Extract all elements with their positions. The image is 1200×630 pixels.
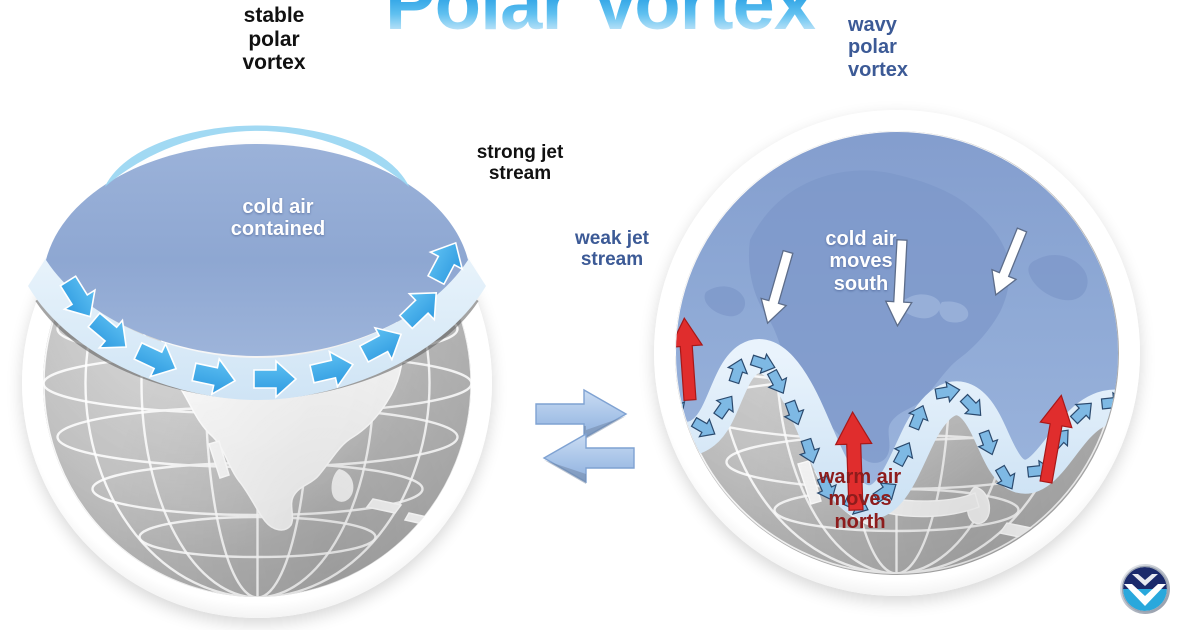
label-cold-air-moves-south: cold air moves south <box>806 228 916 295</box>
noaa-logo <box>1118 562 1172 616</box>
polar-vortex-diagram: Polar Vortex <box>0 0 1200 630</box>
label-cold-air-contained: cold air contained <box>210 196 346 241</box>
label-warm-air-moves-north: warm air moves north <box>800 466 920 533</box>
page-title: Polar Vortex <box>0 0 1200 47</box>
label-strong-jet-stream: strong jet stream <box>455 142 585 185</box>
transition-arrows <box>530 378 640 488</box>
left-arrow-icon <box>544 434 634 484</box>
label-weak-jet-stream: weak jet stream <box>560 228 664 271</box>
label-stable-polar-vortex: stable polar vortex <box>205 4 343 75</box>
label-wavy-polar-vortex: wavy polar vortex <box>848 14 960 81</box>
right-arrow-icon <box>536 390 626 440</box>
